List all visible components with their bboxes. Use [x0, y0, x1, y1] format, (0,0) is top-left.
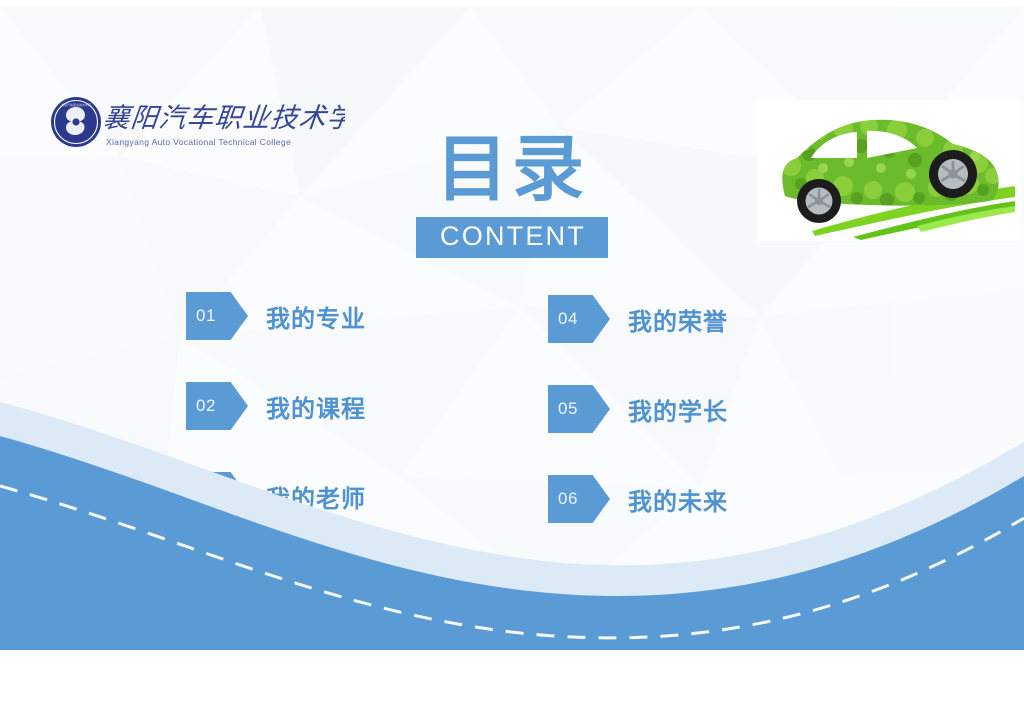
menu-label-02: 我的课程 — [266, 389, 366, 424]
menu-label-04: 我的荣誉 — [628, 302, 728, 337]
menu-item-01[interactable]: 01 我的专业 — [186, 292, 366, 340]
content-subtitle-badge: CONTENT — [416, 217, 608, 258]
svg-text:襄阳汽车职业技术学院: 襄阳汽车职业技术学院 — [105, 103, 345, 134]
menu-label-03: 我的老师 — [266, 479, 366, 514]
svg-text:襄阳汽车职业技术学院: 襄阳汽车职业技术学院 — [61, 102, 91, 107]
menu-number-badge-05: 05 — [548, 385, 610, 433]
menu-item-05[interactable]: 05 我的学长 — [548, 385, 728, 433]
menu-column-left: 01 我的专业 02 我的课程 03 我的老师 — [186, 292, 366, 562]
menu-item-03[interactable]: 03 我的老师 — [186, 472, 366, 520]
bottom-wave-decoration — [0, 390, 1024, 650]
menu-number-badge-04: 04 — [548, 295, 610, 343]
eco-car-image — [757, 100, 1019, 241]
college-name-cn: 襄阳汽车职业技术学院 — [105, 97, 345, 137]
menu-item-06[interactable]: 06 我的未来 — [548, 475, 728, 523]
menu-item-04[interactable]: 04 我的荣誉 — [548, 295, 728, 343]
menu-label-06: 我的未来 — [628, 482, 728, 517]
menu-item-02[interactable]: 02 我的课程 — [186, 382, 366, 430]
menu-number-badge-03: 03 — [186, 472, 248, 520]
menu-label-01: 我的专业 — [266, 299, 366, 334]
menu-number-badge-02: 02 — [186, 382, 248, 430]
menu-label-05: 我的学长 — [628, 392, 728, 427]
menu-number-badge-06: 06 — [548, 475, 610, 523]
menu-column-right: 04 我的荣誉 05 我的学长 06 我的未来 — [548, 295, 728, 565]
menu-number-badge-01: 01 — [186, 292, 248, 340]
presentation-slide: 襄阳汽车职业技术学院 襄阳汽车职业技术学院 Xiangyang Auto Voc… — [0, 7, 1024, 650]
